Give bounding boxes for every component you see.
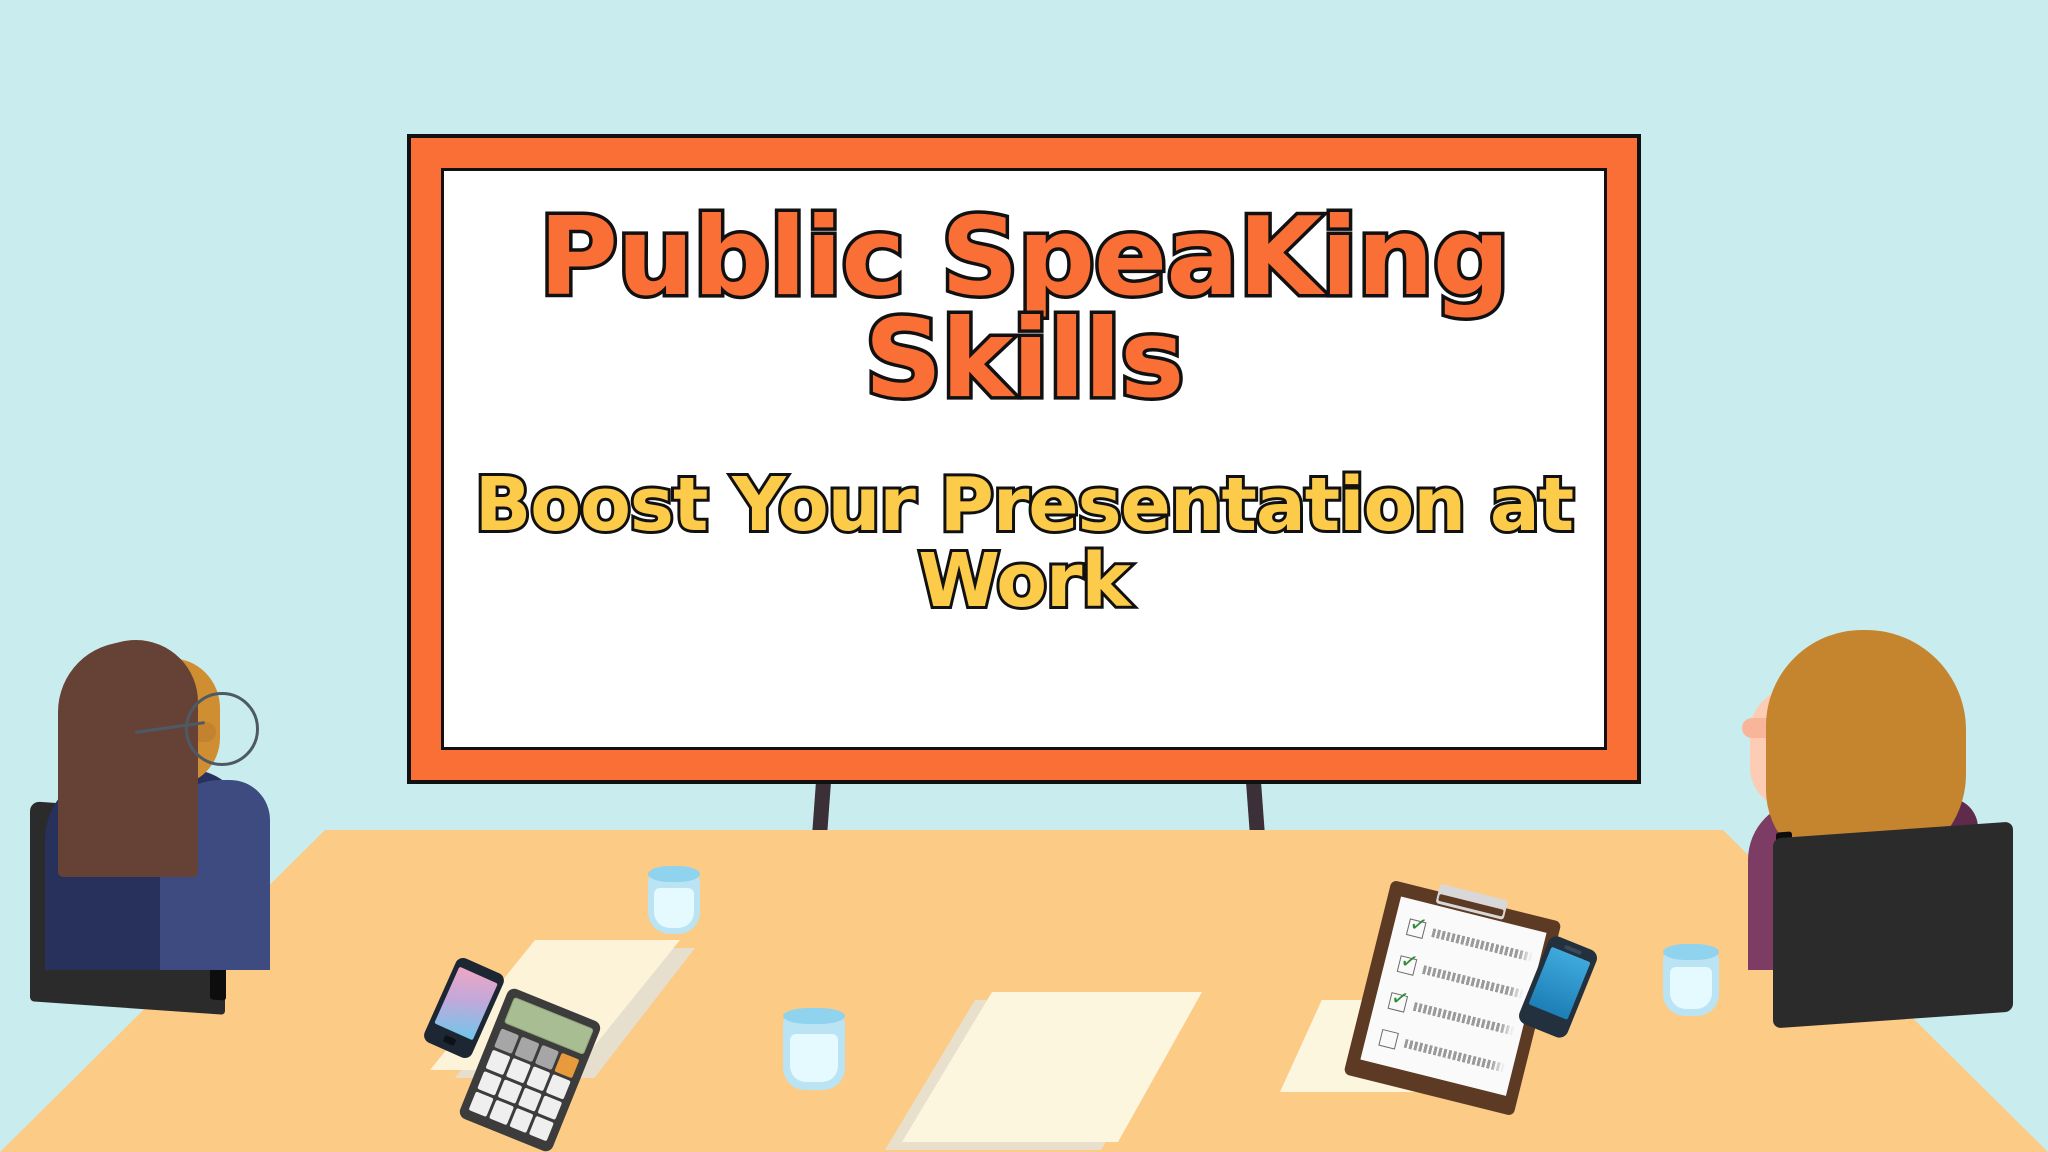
checkmark-icon[interactable]: ✓ (1406, 918, 1427, 939)
whiteboard[interactable]: Public SpeaKing Skills Boost Your Presen… (407, 134, 1641, 784)
glass-water (1670, 967, 1713, 1009)
board-title: Public SpeaKing Skills (467, 207, 1581, 410)
water-glass[interactable] (1663, 944, 1719, 1016)
home-button-icon (443, 1035, 457, 1046)
glass-water (790, 1034, 837, 1083)
calculator-key[interactable] (514, 1036, 539, 1061)
person-left-hair-top (70, 640, 198, 760)
calculator-key[interactable] (506, 1058, 531, 1083)
empty-checkbox-icon[interactable] (1378, 1028, 1399, 1049)
glass-water (654, 888, 694, 928)
calculator-key[interactable] (538, 1095, 563, 1120)
calculator-key[interactable] (497, 1079, 522, 1104)
calculator-key[interactable] (546, 1074, 571, 1099)
person-left (10, 630, 310, 960)
glass-rim (783, 1008, 845, 1024)
board-subtitle: Boost Your Presentation at Work (456, 468, 1593, 619)
calculator-key[interactable] (489, 1100, 514, 1125)
checkmark-icon[interactable]: ✓ (1388, 992, 1409, 1013)
chair-right (1773, 822, 2013, 1029)
person-right-nose (1742, 718, 1768, 738)
presentation-scene: Public SpeaKing Skills Boost Your Presen… (0, 0, 2048, 1152)
glasses-icon (185, 692, 259, 766)
checklist-text-line (1404, 1038, 1506, 1072)
glass-rim (648, 866, 700, 882)
glass-body (783, 1014, 845, 1090)
glass-rim (1663, 944, 1719, 960)
water-glass[interactable] (783, 1008, 845, 1090)
checklist-text-line (1413, 1002, 1515, 1036)
checklist-text-line (1431, 928, 1533, 962)
calculator-key-accent[interactable] (555, 1053, 580, 1078)
checkmark-icon[interactable]: ✓ (1397, 955, 1418, 976)
calculator-key[interactable] (529, 1116, 554, 1141)
whiteboard-surface: Public SpeaKing Skills Boost Your Presen… (441, 168, 1607, 750)
water-glass[interactable] (648, 866, 700, 934)
checklist-text-line (1422, 965, 1524, 999)
person-right (1738, 600, 2048, 960)
